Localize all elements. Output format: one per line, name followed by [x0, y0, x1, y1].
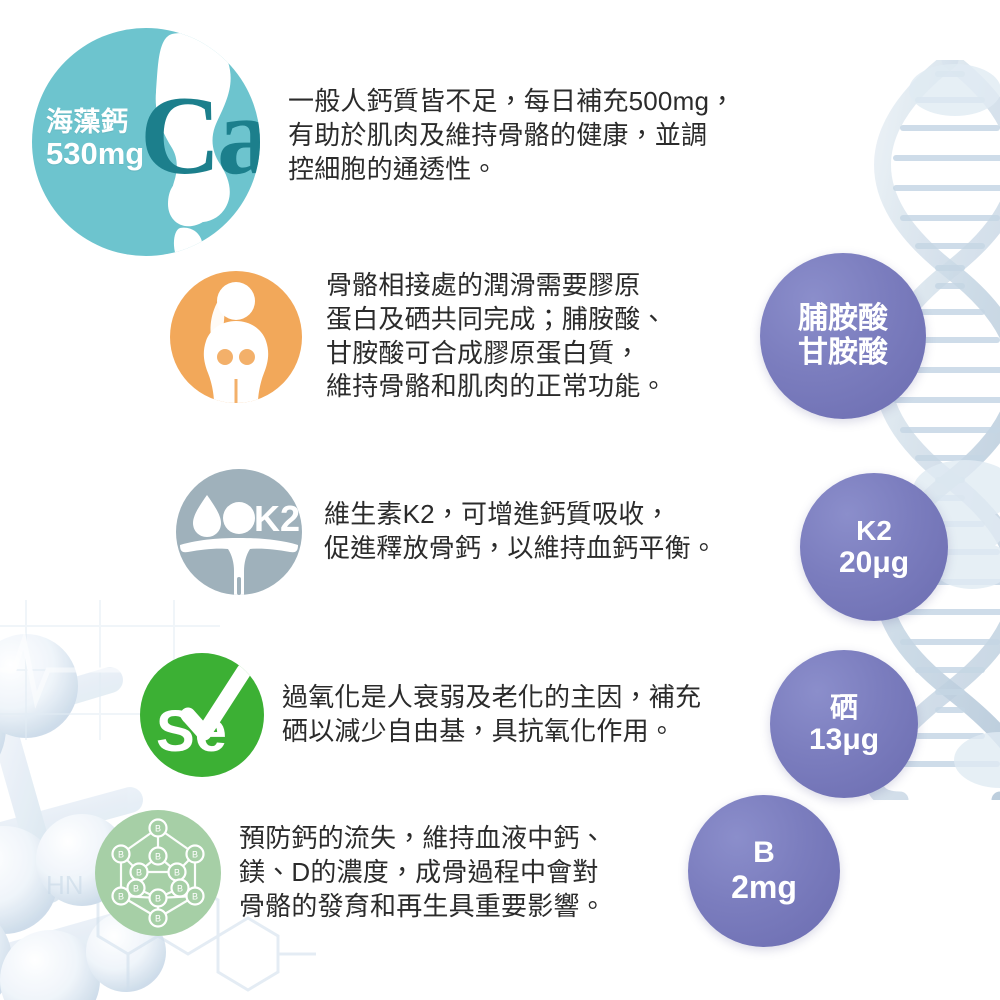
k2-icon-label: K2	[254, 498, 300, 539]
calcium-dose-label: 海藻鈣 530mg	[46, 108, 144, 171]
row-calcium: Ca 海藻鈣 530mg 一般人鈣質皆不足，每日補充500mg， 有助於肌肉及維…	[32, 28, 735, 256]
female-torso-icon	[170, 271, 302, 403]
boron-badge-line2: 2mg	[731, 870, 797, 906]
amino-acid-badge-line2: 甘胺酸	[798, 336, 888, 370]
boron-description: 預防鈣的流失，維持血液中鈣、 鎂、D的濃度，成骨過程中會對 骨骼的發育和再生具重…	[239, 822, 606, 923]
boron-badge-line1: B	[753, 836, 775, 870]
boron-badge: B 2mg	[688, 795, 840, 947]
row-vitamin-k2: K2 維生素K2，可增進鈣質吸收， 促進釋放骨鈣，以維持血鈣平衡。	[176, 469, 717, 595]
selenium-description: 過氧化是人衰弱及老化的主因，補充 硒以減少自由基，具抗氧化作用。	[282, 681, 701, 749]
woman-body-icon	[170, 271, 302, 403]
check-mark-icon	[140, 653, 264, 777]
k2-droplet-person-icon: K2	[176, 469, 302, 595]
boron-cluster-icon: BB BB BB BB BB BB	[95, 810, 221, 936]
vitamin-k2-badge: K2 20μg	[800, 473, 948, 621]
selenium-badge-line1: 硒	[830, 692, 858, 723]
hex-formula-label: HN	[46, 870, 84, 900]
vitamin-k2-description: 維生素K2，可增進鈣質吸收， 促進釋放骨鈣，以維持血鈣平衡。	[324, 498, 717, 566]
amino-acid-badge-line1: 脯胺酸	[798, 302, 888, 336]
svg-text:B: B	[177, 884, 183, 894]
row-selenium: Se 過氧化是人衰弱及老化的主因，補充 硒以減少自由基，具抗氧化作用。	[140, 653, 701, 777]
amino-acid-badge: 脯胺酸 甘胺酸	[760, 253, 926, 419]
svg-text:B: B	[133, 884, 139, 894]
vitamin-k2-badge-line1: K2	[856, 515, 892, 546]
calcium-description: 一般人鈣質皆不足，每日補充500mg， 有助於肌肉及維持骨骼的健康，並調 控細胞…	[288, 85, 735, 186]
selenium-badge-line2: 13μg	[809, 723, 879, 757]
calcium-bone-icon: Ca 海藻鈣 530mg	[32, 28, 260, 256]
svg-text:B: B	[136, 868, 142, 878]
svg-text:B: B	[118, 892, 124, 902]
vitamin-k2-badge-line2: 20μg	[839, 546, 909, 580]
calcium-source-text: 海藻鈣	[46, 108, 144, 137]
row-amino-acid: 骨骼相接處的潤滑需要膠原 蛋白及硒共同完成；脯胺酸、 甘胺酸可合成膠原蛋白質， …	[170, 269, 667, 404]
svg-text:B: B	[155, 914, 161, 924]
boron-molecule-icon: BB BB BB BB BB BB	[95, 810, 221, 936]
vitamin-k2-icon: K2	[176, 469, 302, 595]
selenium-badge: 硒 13μg	[770, 650, 918, 798]
amino-acid-description: 骨骼相接處的潤滑需要膠原 蛋白及硒共同完成；脯胺酸、 甘胺酸可合成膠原蛋白質， …	[326, 269, 667, 404]
svg-text:B: B	[155, 852, 161, 862]
calcium-symbol: Ca	[140, 80, 260, 192]
row-boron: BB BB BB BB BB BB 預防鈣的流失，維持血液中鈣、 鎂、D的濃度，…	[95, 810, 606, 936]
svg-text:B: B	[174, 868, 180, 878]
selenium-check-icon: Se	[140, 653, 264, 777]
svg-text:B: B	[155, 894, 161, 904]
svg-text:B: B	[155, 824, 161, 834]
calcium-amount-text: 530mg	[46, 137, 144, 170]
svg-text:B: B	[192, 892, 198, 902]
infographic-canvas: HN Ca	[0, 0, 1000, 1000]
svg-text:B: B	[192, 850, 198, 860]
svg-text:B: B	[118, 850, 124, 860]
